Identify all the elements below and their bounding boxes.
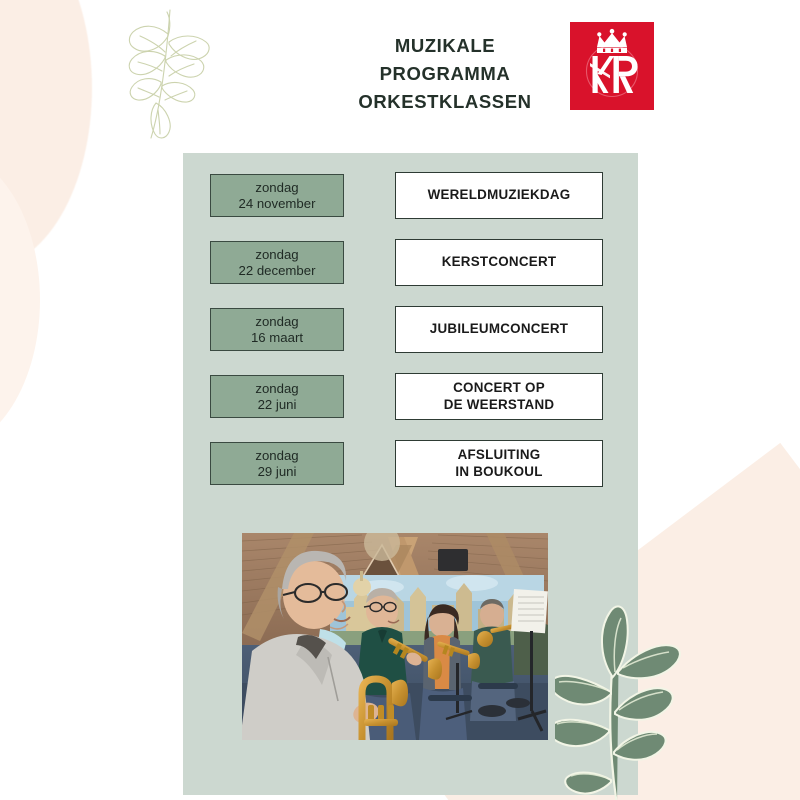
event-box: KERSTCONCERT (395, 239, 603, 286)
event-line: WERELDMUZIEKDAG (428, 187, 571, 204)
date-box: zondag 24 november (210, 174, 344, 217)
title-line-2: PROGRAMMA (330, 60, 560, 88)
event-line: DE WEERSTAND (444, 397, 555, 414)
page-title: MUZIKALE PROGRAMMA ORKESTKLASSEN (330, 32, 560, 116)
date-box: zondag 22 juni (210, 375, 344, 418)
schedule-row: zondag 16 maart JUBILEUMCONCERT (210, 306, 610, 352)
event-box: JUBILEUMCONCERT (395, 306, 603, 353)
poster-canvas: MUZIKALE PROGRAMMA ORKESTKLASSEN (0, 0, 800, 800)
date-box: zondag 16 maart (210, 308, 344, 351)
event-box: WERELDMUZIEKDAG (395, 172, 603, 219)
date-date-label: 16 maart (251, 330, 303, 345)
date-date-label: 22 december (239, 263, 316, 278)
date-day-label: zondag (255, 247, 298, 262)
event-line: KERSTCONCERT (442, 254, 557, 271)
title-line-3: ORKESTKLASSEN (330, 88, 560, 116)
orchestra-photo (242, 533, 548, 740)
event-line: AFSLUITING (458, 447, 541, 464)
schedule-row: zondag 29 juni AFSLUITING IN BOUKOUL (210, 440, 610, 486)
schedule-list: zondag 24 november WERELDMUZIEKDAG zonda… (210, 172, 610, 507)
schedule-row: zondag 24 november WERELDMUZIEKDAG (210, 172, 610, 218)
date-date-label: 24 november (239, 196, 316, 211)
poster-header: MUZIKALE PROGRAMMA ORKESTKLASSEN (0, 0, 800, 150)
date-box: zondag 22 december (210, 241, 344, 284)
date-date-label: 22 juni (258, 397, 297, 412)
event-box: CONCERT OP DE WEERSTAND (395, 373, 603, 420)
date-box: zondag 29 juni (210, 442, 344, 485)
date-day-label: zondag (255, 448, 298, 463)
date-day-label: zondag (255, 180, 298, 195)
schedule-row: zondag 22 december KERSTCONCERT (210, 239, 610, 285)
event-line: JUBILEUMCONCERT (430, 321, 568, 338)
schedule-row: zondag 22 juni CONCERT OP DE WEERSTAND (210, 373, 610, 419)
date-day-label: zondag (255, 381, 298, 396)
date-day-label: zondag (255, 314, 298, 329)
event-line: IN BOUKOUL (455, 464, 542, 481)
event-box: AFSLUITING IN BOUKOUL (395, 440, 603, 487)
leaf-branch-solid-icon (555, 580, 740, 800)
date-date-label: 29 juni (258, 464, 297, 479)
event-line: CONCERT OP (453, 380, 545, 397)
title-line-1: MUZIKALE (330, 32, 560, 60)
organisation-logo (570, 22, 654, 110)
